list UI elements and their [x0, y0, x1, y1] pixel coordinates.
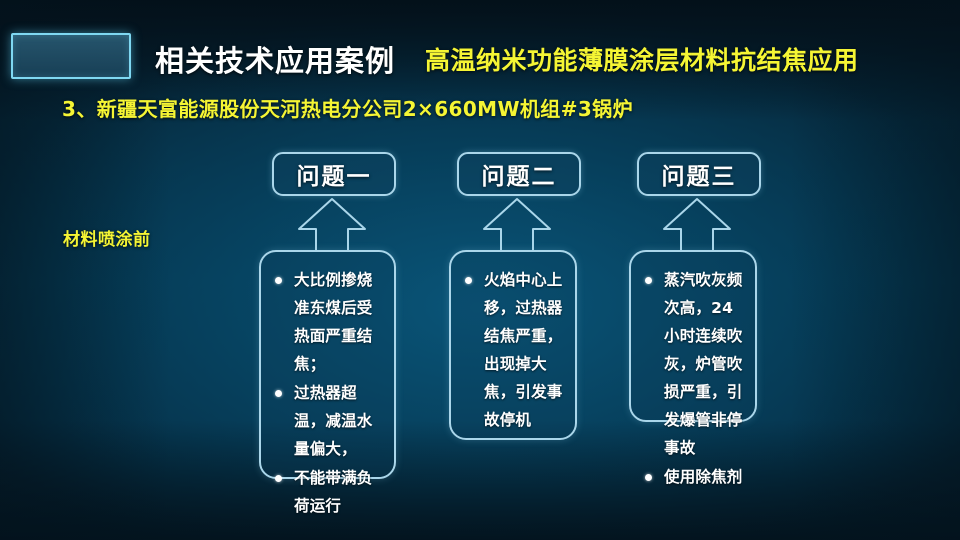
problem-1-bullet-list: 大比例掺烧准东煤后受热面严重结焦； 过热器超温，减温水量偏大， 不能带满负荷运行 [271, 266, 384, 520]
arrow-up-icon-2 [481, 196, 553, 252]
problem-1-body-box: 大比例掺烧准东煤后受热面严重结焦； 过热器超温，减温水量偏大， 不能带满负荷运行 [259, 250, 396, 479]
problem-1-header-box[interactable]: 问题一 [272, 152, 396, 196]
problem-2-bullet-list: 火焰中心上移，过热器结焦严重，出现掉大焦，引发事故停机 [461, 266, 565, 434]
left-vignette [0, 0, 170, 540]
list-item: 使用除焦剂 [641, 463, 745, 491]
slide-root: 相关技术应用案例 高温纳米功能薄膜涂层材料抗结焦应用 3、新疆天富能源股份天河热… [0, 0, 960, 540]
arrow-up-icon-1 [296, 196, 368, 252]
list-item: 大比例掺烧准东煤后受热面严重结焦； [271, 266, 384, 378]
problem-3-body-box: 蒸汽吹灰频次高，24小时连续吹灰，炉管吹损严重，引发爆管非停事故 使用除焦剂 [629, 250, 757, 422]
list-item: 蒸汽吹灰频次高，24小时连续吹灰，炉管吹损严重，引发爆管非停事故 [641, 266, 745, 462]
problem-3-bullet-list: 蒸汽吹灰频次高，24小时连续吹灰，炉管吹损严重，引发爆管非停事故 使用除焦剂 [641, 266, 745, 491]
logo-placeholder-box [11, 33, 131, 79]
problem-2-header-box[interactable]: 问题二 [457, 152, 581, 196]
list-item: 火焰中心上移，过热器结焦严重，出现掉大焦，引发事故停机 [461, 266, 565, 434]
arrow-up-icon-3 [661, 196, 733, 252]
list-item: 不能带满负荷运行 [271, 464, 384, 520]
problem-1-header-label: 问题一 [297, 157, 372, 191]
list-item: 过热器超温，减温水量偏大， [271, 379, 384, 463]
problem-2-body-box: 火焰中心上移，过热器结焦严重，出现掉大焦，引发事故停机 [449, 250, 577, 440]
section-subtitle: 3、新疆天富能源股份天河热电分公司2×660MW机组#3锅炉 [62, 93, 633, 122]
right-vignette [790, 0, 960, 540]
header-subject-title: 高温纳米功能薄膜涂层材料抗结焦应用 [425, 41, 859, 77]
stage-label-before-coating: 材料喷涂前 [63, 225, 151, 250]
problem-3-header-box[interactable]: 问题三 [637, 152, 761, 196]
problem-2-header-label: 问题二 [482, 157, 557, 191]
page-title: 相关技术应用案例 [155, 38, 395, 80]
problem-3-header-label: 问题三 [662, 157, 737, 191]
